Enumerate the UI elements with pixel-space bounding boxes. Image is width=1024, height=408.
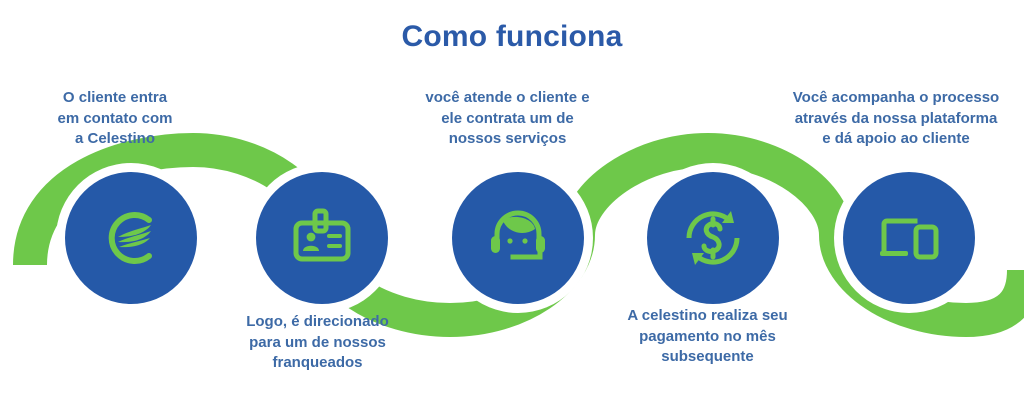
step-caption-3: você atende o cliente e ele contrata um … (405, 88, 610, 150)
step-caption-2: Logo, é direcionado para um de nossos fr… (220, 312, 415, 374)
step-circle-1[interactable] (65, 172, 197, 304)
celestino-logo-icon (94, 201, 168, 275)
how-it-works-infographic: Como funciona O cliente entra em contato… (0, 0, 1024, 408)
step-caption-4: A celestino realiza seu pagamento no mês… (600, 306, 815, 368)
step-circle-3[interactable] (452, 172, 584, 304)
step-caption-1: O cliente entra em contato com a Celesti… (10, 88, 220, 150)
devices-platform-icon (872, 201, 946, 275)
step-caption-5: Você acompanha o processo através da nos… (780, 88, 1012, 150)
money-refresh-icon (676, 201, 750, 275)
step-circle-4[interactable] (647, 172, 779, 304)
headset-support-icon (481, 201, 555, 275)
step-circle-2[interactable] (256, 172, 388, 304)
id-badge-icon (285, 201, 359, 275)
step-circle-5[interactable] (843, 172, 975, 304)
